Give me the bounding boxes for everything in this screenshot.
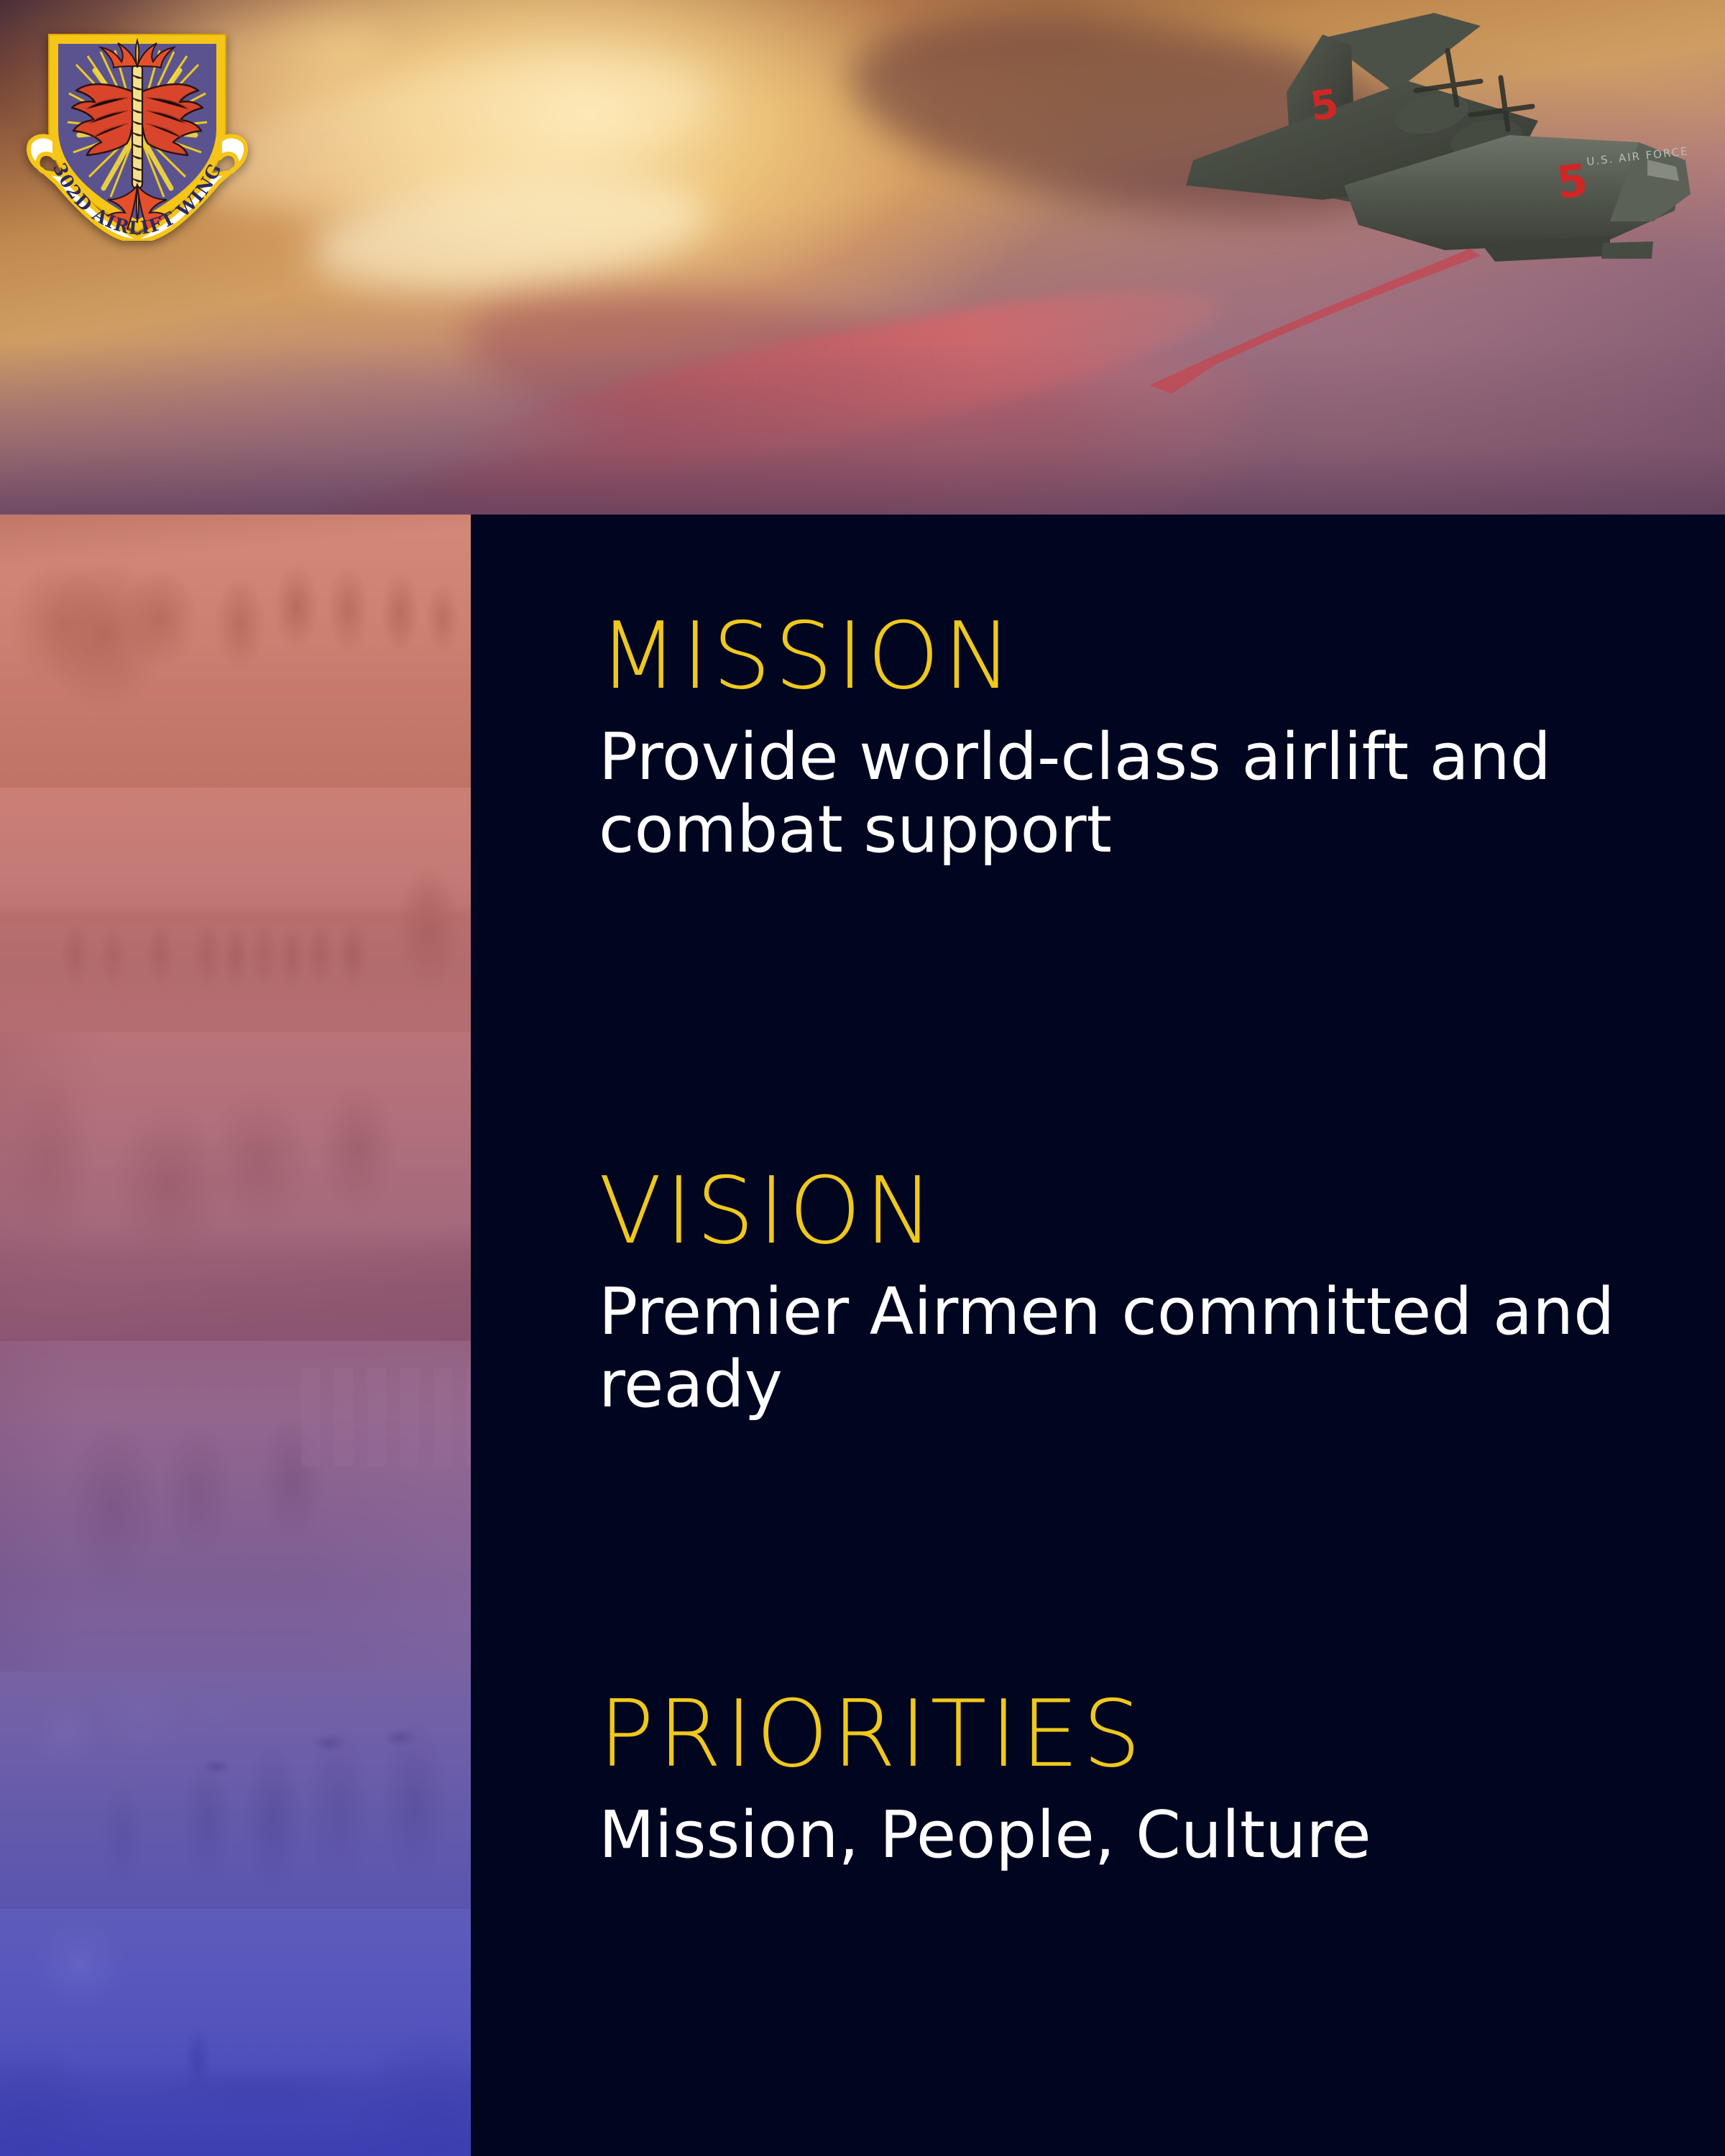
photo-strip: [0, 515, 471, 2156]
duotone-overlay: [0, 1672, 471, 1909]
section-vision: VISION Premier Airmen committed and read…: [599, 1166, 1691, 1422]
section-body-mission: Provide world-class airlift and combat s…: [599, 722, 1662, 867]
section-body-priorities: Mission, People, Culture: [599, 1800, 1662, 1872]
duotone-overlay: [0, 1909, 471, 2156]
poster-root: 5 5 U.S. AIR FORCE: [0, 0, 1725, 2156]
duotone-overlay: [0, 1032, 471, 1341]
svg-text:5: 5: [1554, 154, 1591, 209]
section-title-mission: MISSION: [599, 611, 1691, 703]
duotone-overlay: [0, 788, 471, 1032]
header-banner: 5 5 U.S. AIR FORCE: [0, 0, 1725, 515]
photo-airman-with-child: [0, 515, 471, 788]
photo-salute-at-sunrise: [0, 1909, 471, 2156]
duotone-overlay: [0, 1341, 471, 1672]
photo-formation-briefing: [0, 788, 471, 1032]
section-title-vision: VISION: [599, 1166, 1691, 1258]
photo-logistics-warehouse: [0, 1341, 471, 1672]
wing-emblem: 302D AIRLIFT WING: [26, 22, 249, 241]
photo-airmen-at-laptops: [0, 1032, 471, 1341]
section-title-priorities: PRIORITIES: [599, 1689, 1691, 1781]
photo-airmen-marching: [0, 1672, 471, 1909]
section-priorities: PRIORITIES Mission, People, Culture: [599, 1689, 1691, 1872]
c130-aircraft-photo: 5 5 U.S. AIR FORCE: [1107, 6, 1711, 408]
content-panel: MISSION Provide world-class airlift and …: [471, 515, 1725, 2156]
section-mission: MISSION Provide world-class airlift and …: [599, 611, 1691, 867]
section-body-vision: Premier Airmen committed and ready: [599, 1276, 1662, 1422]
duotone-overlay: [0, 515, 471, 788]
